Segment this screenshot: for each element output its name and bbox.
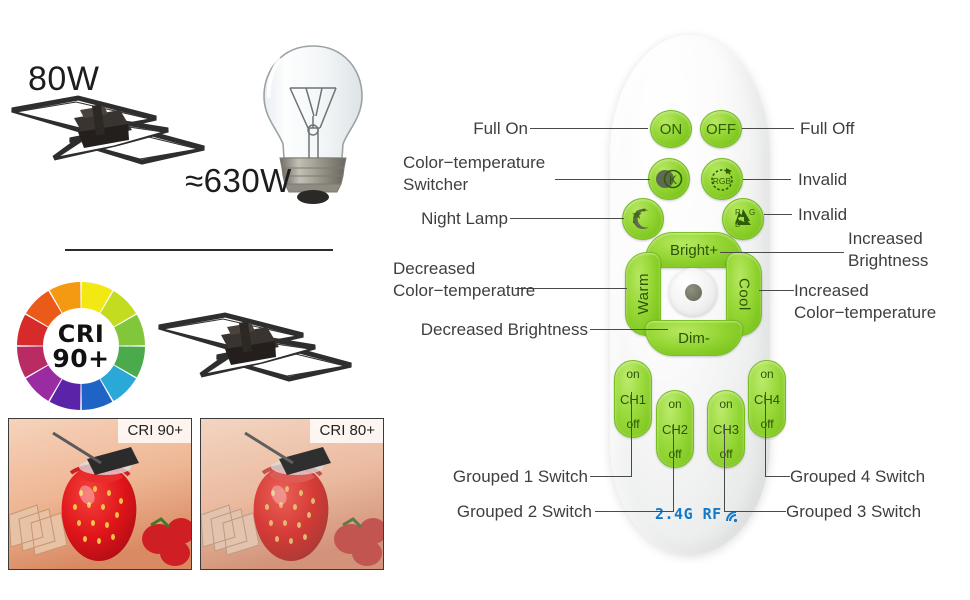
callout-night-lamp: Night Lamp bbox=[400, 208, 508, 230]
comparison-photo-cri90: CRI 90+ bbox=[8, 418, 192, 570]
ch2-on-label: on bbox=[668, 397, 681, 411]
callout-decreased-color-temperature: Decreased Color−temperature bbox=[393, 258, 535, 302]
callout-grouped-3: Grouped 3 Switch bbox=[786, 501, 921, 523]
callout-full-on: Full On bbox=[400, 118, 528, 140]
svg-text:B: B bbox=[735, 220, 740, 229]
cri-badge: CRI 90+ bbox=[43, 308, 119, 384]
leader-invalid-1 bbox=[743, 179, 791, 180]
ch3-on-label: on bbox=[719, 397, 732, 411]
callout-increased-brightness-line2: Brightness bbox=[848, 250, 928, 272]
callout-full-off: Full Off bbox=[800, 118, 854, 140]
btn-on-label: ON bbox=[660, 121, 683, 138]
svg-text:RGB: RGB bbox=[713, 176, 732, 186]
remote-button-channel-2[interactable]: on CH2 off bbox=[656, 390, 694, 468]
leader-grouped2-v bbox=[673, 424, 674, 511]
leader-grouped3-h bbox=[724, 511, 786, 512]
dim-down-label: Dim- bbox=[678, 330, 710, 347]
callout-grouped-1: Grouped 1 Switch bbox=[418, 466, 588, 488]
leader-decreased-brightness bbox=[590, 329, 668, 330]
callout-decreased-brightness: Decreased Brightness bbox=[384, 319, 588, 341]
comparison-photo-cri80: CRI 80+ bbox=[200, 418, 384, 570]
ch1-on-label: on bbox=[626, 367, 639, 381]
callout-invalid-2: Invalid bbox=[798, 204, 847, 226]
rf-brand-mark: 2.4G RF bbox=[655, 505, 738, 523]
ch3-name-label: CH3 bbox=[713, 422, 739, 437]
led-ceiling-fixture-image-2 bbox=[155, 305, 370, 420]
svg-text:K: K bbox=[669, 173, 677, 187]
ch4-on-label: on bbox=[760, 367, 773, 381]
leader-grouped3-v bbox=[724, 424, 725, 511]
bright-up-label: Bright+ bbox=[670, 242, 718, 259]
leader-invalid-2 bbox=[764, 214, 792, 215]
remote-button-rgb[interactable]: RGB bbox=[701, 158, 743, 200]
leader-night-lamp bbox=[510, 218, 624, 219]
ch1-off-label: off bbox=[626, 417, 639, 431]
remote-button-channel-1[interactable]: on CH1 off bbox=[614, 360, 652, 438]
ch2-name-label: CH2 bbox=[662, 422, 688, 437]
callout-decreased-ct-line1: Decreased bbox=[393, 258, 535, 280]
callout-grouped-4: Grouped 4 Switch bbox=[790, 466, 925, 488]
ch4-off-label: off bbox=[760, 417, 773, 431]
leader-grouped4-v bbox=[765, 392, 766, 476]
remote-button-dim-down[interactable]: Dim- bbox=[645, 320, 743, 356]
remote-control-panel: ON OFF K RGB bbox=[400, 0, 970, 600]
callout-increased-ct-line1: Increased bbox=[794, 280, 936, 302]
night-lamp-icon bbox=[628, 205, 658, 233]
warm-label: Warm bbox=[635, 273, 652, 314]
center-knob-icon bbox=[685, 284, 702, 301]
callout-color-temp-switcher: Color−temperature Switcher bbox=[403, 152, 545, 196]
ch4-name-label: CH4 bbox=[754, 392, 780, 407]
leader-increased-brightness bbox=[720, 252, 844, 253]
leader-full-on bbox=[530, 128, 648, 129]
callout-color-temp-switcher-line2: Switcher bbox=[403, 174, 545, 196]
remote-button-center[interactable] bbox=[669, 268, 717, 316]
cri-color-wheel: CRI 90+ bbox=[16, 281, 146, 411]
btn-off-label: OFF bbox=[706, 121, 736, 138]
callout-color-temp-switcher-line1: Color−temperature bbox=[403, 152, 545, 174]
ch2-off-label: off bbox=[668, 447, 681, 461]
equivalent-wattage-label: ≈630W bbox=[185, 162, 292, 200]
remote-directional-pad: Bright+ Warm Cool Dim- bbox=[625, 232, 760, 354]
remote-button-color-temperature-switcher[interactable]: K bbox=[648, 158, 690, 200]
photo-tag-cri80: CRI 80+ bbox=[310, 419, 383, 443]
callout-decreased-ct-line2: Color−temperature bbox=[393, 280, 535, 302]
remote-button-full-off[interactable]: OFF bbox=[700, 110, 742, 148]
section-divider bbox=[65, 249, 333, 251]
ch3-off-label: off bbox=[719, 447, 732, 461]
callout-invalid-1: Invalid bbox=[798, 169, 847, 191]
lumen-comparison-panel: 80W bbox=[0, 0, 400, 600]
callout-increased-ct-line2: Color−temperature bbox=[794, 302, 936, 324]
leader-full-off bbox=[742, 128, 794, 129]
rgb-cycle-icon: RGB bbox=[706, 164, 738, 194]
leader-grouped2-h bbox=[595, 511, 674, 512]
svg-text:G: G bbox=[749, 208, 755, 217]
leader-color-temp bbox=[555, 179, 650, 180]
svg-text:R: R bbox=[735, 208, 741, 217]
ch1-name-label: CH1 bbox=[620, 392, 646, 407]
rgb-triangle-icon: R B G bbox=[728, 205, 758, 233]
moon-k-icon: K bbox=[653, 166, 685, 192]
leader-grouped4-h bbox=[765, 476, 790, 477]
callout-increased-brightness: Increased Brightness bbox=[848, 228, 928, 272]
remote-button-channel-3[interactable]: on CH3 off bbox=[707, 390, 745, 468]
callout-increased-brightness-line1: Increased bbox=[848, 228, 928, 250]
leader-grouped1-h bbox=[590, 476, 632, 477]
cool-label: Cool bbox=[736, 278, 753, 311]
cri-badge-line1: CRI bbox=[58, 322, 105, 346]
callout-grouped-2: Grouped 2 Switch bbox=[422, 501, 592, 523]
callout-increased-color-temperature: Increased Color−temperature bbox=[794, 280, 936, 324]
remote-button-full-on[interactable]: ON bbox=[650, 110, 692, 148]
remote-button-channel-4[interactable]: on CH4 off bbox=[748, 360, 786, 438]
leader-grouped1-v bbox=[631, 392, 632, 476]
rf-text-label: 2.4G RF bbox=[655, 505, 722, 523]
photo-tag-cri90: CRI 90+ bbox=[118, 419, 191, 443]
leader-increased-ct bbox=[759, 290, 794, 291]
cri-badge-line2: 90+ bbox=[52, 346, 109, 371]
